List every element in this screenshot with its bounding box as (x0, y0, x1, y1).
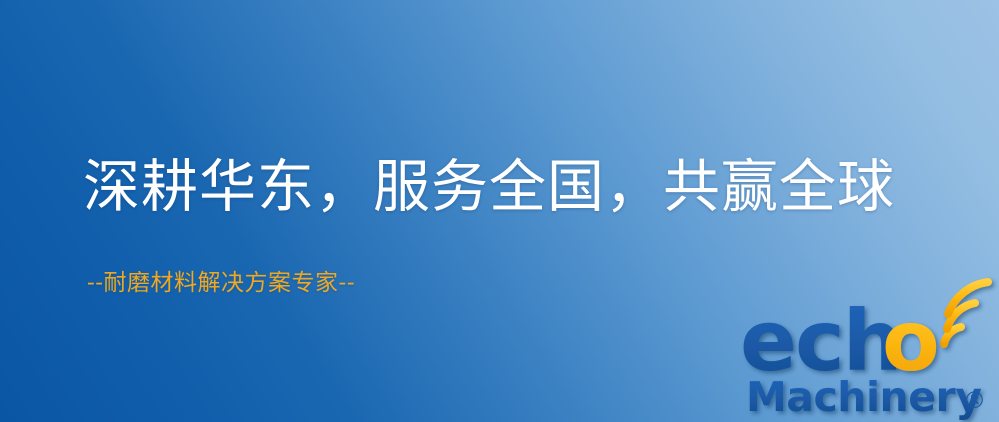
banner-headline: 深耕华东，服务全国，共赢全球 (83, 155, 895, 219)
signal-arcs-icon (944, 282, 988, 344)
banner-subtitle: --耐磨材料解决方案专家-- (87, 268, 355, 298)
registered-trademark-icon: ® (963, 388, 986, 414)
echo-machinery-logo: ech o Machinery ® (742, 296, 999, 422)
promotional-banner: 深耕华东，服务全国，共赢全球 --耐磨材料解决方案专家-- (0, 0, 999, 422)
logo-subbrand: Machinery (746, 373, 981, 421)
